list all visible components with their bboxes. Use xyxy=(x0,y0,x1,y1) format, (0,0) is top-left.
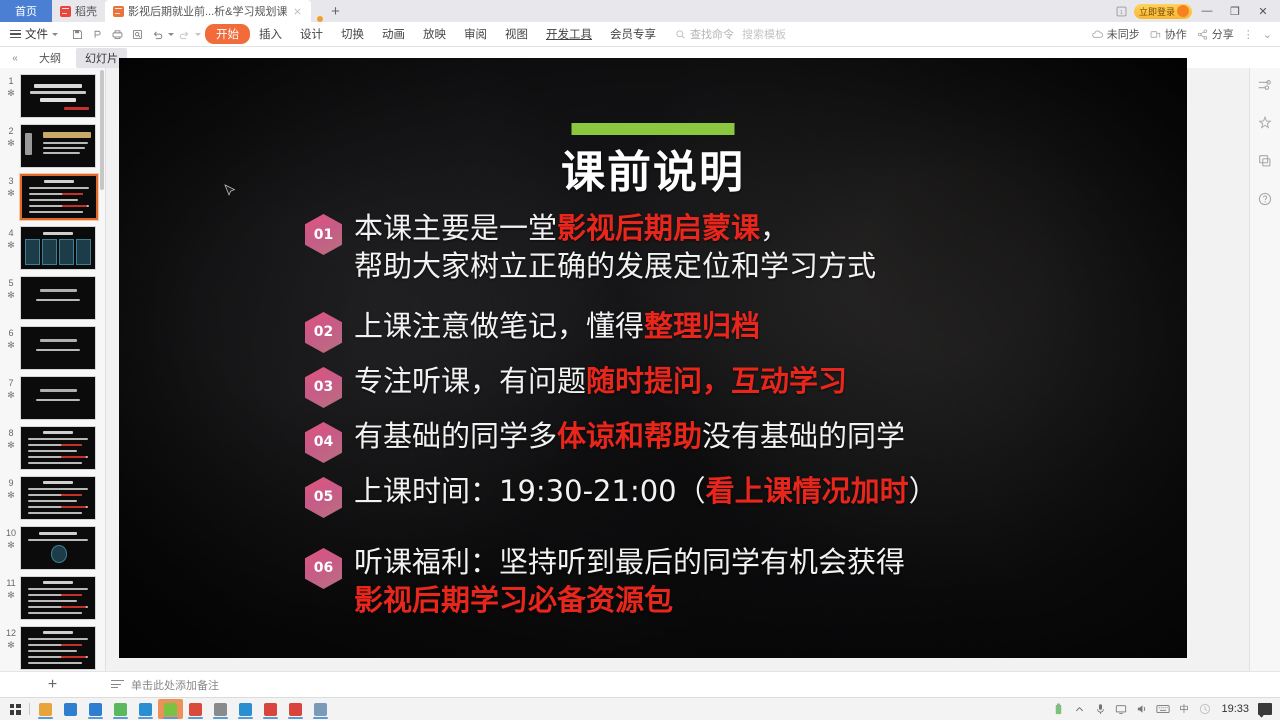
taskbar-divider xyxy=(29,703,30,715)
thumbnail-meta: 3✻ xyxy=(2,174,20,200)
avatar xyxy=(1177,5,1189,17)
search-icon xyxy=(675,29,686,40)
current-slide[interactable]: 课前说明 01本课主要是一堂影视后期启蒙课， 帮助大家树立正确的发展定位和学习方… xyxy=(119,58,1187,658)
ribbon-tab-view[interactable]: 视图 xyxy=(496,24,537,44)
taskbar-app-browser-blue[interactable] xyxy=(133,699,158,719)
system-tray: 中 19:33 xyxy=(1051,702,1276,716)
add-slide-button[interactable]: + xyxy=(0,676,105,694)
animation-star-icon: ✻ xyxy=(2,339,20,352)
wps-presentation-window: 首页 稻壳 影视后期就业前...析&学习规划课 + 1 立即登录 — ❐ ✕ xyxy=(0,0,1280,720)
file-menu-button[interactable]: 文件 xyxy=(6,26,62,42)
thumbnail-preview[interactable] xyxy=(20,626,96,670)
ppt-doc-icon xyxy=(113,6,124,17)
mail-icon xyxy=(64,703,77,716)
ime-cn-icon[interactable]: 中 xyxy=(1177,702,1191,716)
taskbar-app-peak-app[interactable] xyxy=(308,699,333,719)
thumbnail-preview[interactable] xyxy=(20,226,96,270)
running-indicator xyxy=(163,717,178,719)
print-preview-icon[interactable] xyxy=(88,25,107,44)
vip-login-label: 立即登录 xyxy=(1139,5,1175,18)
chevron-down-icon xyxy=(52,33,58,36)
menu-icon xyxy=(10,30,21,38)
running-indicator xyxy=(213,717,228,719)
thumbnail-number: 3 xyxy=(2,176,20,187)
right-tool-rail xyxy=(1249,68,1280,672)
thumbnail-preview[interactable] xyxy=(20,476,96,520)
cursor-icon xyxy=(224,184,236,196)
ribbon-tab-start[interactable]: 开始 xyxy=(205,24,250,44)
sync-status-label: 未同步 xyxy=(1107,26,1140,42)
quick-access-toolbar xyxy=(68,25,201,44)
running-indicator xyxy=(138,717,153,719)
taskbar-app-file-explorer[interactable] xyxy=(33,699,58,719)
wps-app-icon xyxy=(289,703,302,716)
thumbnail-slide-9[interactable]: 9✻ xyxy=(0,473,105,523)
new-tab-button[interactable]: + xyxy=(323,0,349,22)
tab-presentation[interactable]: 影视后期就业前...析&学习规划课 xyxy=(105,0,311,22)
thumbnail-meta: 10✻ xyxy=(2,526,20,552)
thumbnail-preview[interactable] xyxy=(20,526,96,570)
export-pdf-icon[interactable] xyxy=(128,25,147,44)
thumbnail-meta: 8✻ xyxy=(2,426,20,452)
ribbon-collapse-button[interactable]: ⌄ xyxy=(1263,28,1272,41)
ribbon-tab-insert[interactable]: 插入 xyxy=(250,24,291,44)
undo-chevron-icon[interactable] xyxy=(168,33,174,36)
tab-docer-label: 稻壳 xyxy=(75,3,97,19)
animation-star-icon: ✻ xyxy=(2,439,20,452)
thumbnail-slide-11[interactable]: 11✻ xyxy=(0,573,105,623)
slide-bullet-list: 01本课主要是一堂影视后期启蒙课， 帮助大家树立正确的发展定位和学习方式02上课… xyxy=(305,210,1147,634)
taskbar-app-kx-app[interactable] xyxy=(233,699,258,719)
search-placeholder: 查找命令 xyxy=(690,26,734,42)
taskbar-app-mail[interactable] xyxy=(58,699,83,719)
taskbar-app-panda-app[interactable] xyxy=(208,699,233,719)
thumbnail-meta: 6✻ xyxy=(2,326,20,352)
restore-button[interactable]: ❐ xyxy=(1222,0,1248,22)
running-indicator xyxy=(238,717,253,719)
mic-icon[interactable] xyxy=(1093,702,1107,716)
layers-icon[interactable] xyxy=(1254,150,1276,172)
browser-blue-icon xyxy=(139,703,152,716)
collab-icon xyxy=(1149,28,1162,41)
slide-bullet-05[interactable]: 05上课时间：19:30-21:00（看上课情况加时） xyxy=(305,473,1147,514)
thumbnail-preview[interactable] xyxy=(20,74,96,118)
ribbon-bar: 文件 开始 插入 设计 切换 动画 放映 审阅 视图 开发工具 会员专享 xyxy=(0,22,1280,47)
ribbon-overflow-button[interactable]: ⋮ xyxy=(1243,28,1254,41)
thumbnail-list: 1✻2✻3✻4✻5✻6✻7✻8✻9✻10✻11✻12✻13✻ xyxy=(0,68,105,672)
thumbnail-number: 12 xyxy=(2,628,20,639)
keyboard-icon[interactable] xyxy=(1156,702,1170,716)
notes-placeholder-label: 单击此处添加备注 xyxy=(131,677,219,693)
thumbnail-preview[interactable] xyxy=(20,376,96,420)
thumbnail-slide-12[interactable]: 12✻ xyxy=(0,623,105,672)
close-window-button[interactable]: ✕ xyxy=(1250,0,1276,22)
thumbnail-number: 1 xyxy=(2,76,20,87)
magic-star-icon[interactable] xyxy=(1254,112,1276,134)
taskbar-app-lark[interactable] xyxy=(83,699,108,719)
thumbnail-preview[interactable] xyxy=(20,124,96,168)
close-icon[interactable] xyxy=(292,6,303,17)
ribbon-tab-slideshow[interactable]: 放映 xyxy=(414,24,455,44)
thumbnail-preview[interactable] xyxy=(20,276,96,320)
notes-bar: + 单击此处添加备注 xyxy=(0,671,1280,698)
taskbar-app-shuffle-app[interactable] xyxy=(258,699,283,719)
thumbnail-slide-8[interactable]: 8✻ xyxy=(0,423,105,473)
thumbnail-number: 7 xyxy=(2,378,20,389)
thumbnail-preview[interactable] xyxy=(20,576,96,620)
redo-icon[interactable] xyxy=(175,25,194,44)
thumbnail-scrollbar[interactable] xyxy=(100,68,105,672)
collaborate-label: 协作 xyxy=(1165,26,1187,42)
taskbar-app-browser-green[interactable] xyxy=(108,699,133,719)
chevron-up-icon[interactable] xyxy=(1072,702,1086,716)
tab-home[interactable]: 首页 xyxy=(0,0,52,22)
share-icon xyxy=(1196,28,1209,41)
bullet-text: 上课注意做笔记，懂得整理归档 xyxy=(354,308,760,346)
sync-icon[interactable] xyxy=(1198,702,1212,716)
thumbnail-preview[interactable] xyxy=(20,326,96,370)
search-templates-label[interactable]: 搜索模板 xyxy=(742,26,786,42)
print-icon[interactable] xyxy=(108,25,127,44)
svg-text:中: 中 xyxy=(1180,703,1189,714)
ribbon-tabs: 开始 插入 设计 切换 动画 放映 审阅 视图 开发工具 会员专享 xyxy=(205,24,665,44)
sync-status-button[interactable]: 未同步 xyxy=(1091,26,1140,42)
file-explorer-icon xyxy=(39,703,52,716)
screenshot-icon[interactable]: 1 xyxy=(1112,1,1132,21)
thumbnail-meta: 1✻ xyxy=(2,74,20,100)
slide-thumbnail-panel[interactable]: 1✻2✻3✻4✻5✻6✻7✻8✻9✻10✻11✻12✻13✻ xyxy=(0,68,106,672)
slide-bullet-02[interactable]: 02上课注意做笔记，懂得整理归档 xyxy=(305,308,1147,349)
ribbon-tab-animation[interactable]: 动画 xyxy=(373,24,414,44)
animation-star-icon: ✻ xyxy=(2,87,20,100)
slide-canvas-area[interactable]: 课前说明 01本课主要是一堂影视后期启蒙课， 帮助大家树立正确的发展定位和学习方… xyxy=(106,68,1249,672)
clock-time[interactable]: 19:33 xyxy=(1219,703,1251,715)
bullet-number-badge: 04 xyxy=(305,422,342,463)
windows-taskbar: 中 19:33 xyxy=(0,697,1280,720)
thumbnail-slide-7[interactable]: 7✻ xyxy=(0,373,105,423)
collaborate-button[interactable]: 协作 xyxy=(1149,26,1187,42)
slide-bullet-06[interactable]: 06听课福利：坚持听到最后的同学有机会获得 影视后期学习必备资源包 xyxy=(305,544,1147,620)
bullet-text: 专注听课，有问题随时提问，互动学习 xyxy=(354,363,847,401)
window-right-controls: 1 立即登录 — ❐ ✕ xyxy=(1112,0,1280,22)
ribbon-tab-review[interactable]: 审阅 xyxy=(455,24,496,44)
panda-app-icon xyxy=(214,703,227,716)
tab-docer[interactable]: 稻壳 xyxy=(52,0,105,22)
kx-app-icon xyxy=(239,703,252,716)
minimize-button[interactable]: — xyxy=(1194,0,1220,22)
bullet-number-badge: 01 xyxy=(305,214,342,255)
thumbnail-slide-4[interactable]: 4✻ xyxy=(0,223,105,273)
animation-star-icon: ✻ xyxy=(2,187,20,200)
lark-icon xyxy=(89,703,102,716)
animation-star-icon: ✻ xyxy=(2,489,20,502)
active-app-icon xyxy=(164,703,177,716)
slide-title[interactable]: 课前说明 xyxy=(119,136,1187,200)
running-indicator xyxy=(188,717,203,719)
notes-placeholder-area[interactable]: 单击此处添加备注 xyxy=(105,677,219,693)
main-area: 1✻2✻3✻4✻5✻6✻7✻8✻9✻10✻11✻12✻13✻ 课前说明 01本课… xyxy=(0,68,1280,672)
thumbnail-number: 6 xyxy=(2,328,20,339)
tab-outline[interactable]: 大纲 xyxy=(30,48,70,68)
thumbnail-number: 4 xyxy=(2,228,20,239)
bullet-number-badge: 02 xyxy=(305,312,342,353)
help-circle-icon[interactable] xyxy=(1254,188,1276,210)
running-indicator xyxy=(88,717,103,719)
bullet-text: 听课福利：坚持听到最后的同学有机会获得 影视后期学习必备资源包 xyxy=(354,544,905,620)
save-icon[interactable] xyxy=(68,25,87,44)
thumbnail-meta: 11✻ xyxy=(2,576,20,602)
cloud-sync-icon xyxy=(1091,28,1104,41)
window-tab-bar: 首页 稻壳 影视后期就业前...析&学习规划课 + 1 立即登录 — ❐ ✕ xyxy=(0,0,1280,22)
bullet-text: 有基础的同学多体谅和帮助没有基础的同学 xyxy=(354,418,905,456)
start-icon[interactable] xyxy=(4,699,26,719)
thumbnail-slide-3[interactable]: 3✻ xyxy=(0,171,105,223)
running-indicator xyxy=(263,717,278,719)
bullet-number-badge: 05 xyxy=(305,477,342,518)
animation-star-icon: ✻ xyxy=(2,239,20,252)
peak-app-icon xyxy=(314,703,327,716)
adjust-sliders-icon[interactable] xyxy=(1254,74,1276,96)
thumbnail-meta: 5✻ xyxy=(2,276,20,302)
thumbnail-number: 2 xyxy=(2,126,20,137)
ribbon-tab-transition[interactable]: 切换 xyxy=(332,24,373,44)
thumbnail-slide-2[interactable]: 2✻ xyxy=(0,121,105,171)
thumbnail-preview[interactable] xyxy=(20,426,96,470)
slide-bullet-01[interactable]: 01本课主要是一堂影视后期启蒙课， 帮助大家树立正确的发展定位和学习方式 xyxy=(305,210,1147,286)
thumbnail-number: 8 xyxy=(2,428,20,439)
ribbon-tab-design[interactable]: 设计 xyxy=(291,24,332,44)
browser-green-icon xyxy=(114,703,127,716)
thumbnail-number: 5 xyxy=(2,278,20,289)
thumbnail-meta: 2✻ xyxy=(2,124,20,150)
thumbnail-slide-10[interactable]: 10✻ xyxy=(0,523,105,573)
animation-star-icon: ✻ xyxy=(2,539,20,552)
thumbnail-slide-6[interactable]: 6✻ xyxy=(0,323,105,373)
bullet-text: 上课时间：19:30-21:00（看上课情况加时） xyxy=(354,473,938,511)
thumbnail-meta: 4✻ xyxy=(2,226,20,252)
share-button[interactable]: 分享 xyxy=(1196,26,1234,42)
file-menu-label: 文件 xyxy=(25,26,48,42)
notification-icon[interactable] xyxy=(1258,703,1272,715)
ribbon-tab-devtools[interactable]: 开发工具 xyxy=(537,24,601,44)
chrome-icon xyxy=(189,703,202,716)
tab-presentation-label: 影视后期就业前...析&学习规划课 xyxy=(128,3,288,19)
slide-bullet-04[interactable]: 04有基础的同学多体谅和帮助没有基础的同学 xyxy=(305,418,1147,459)
thumbnail-slide-5[interactable]: 5✻ xyxy=(0,273,105,323)
vip-login-button[interactable]: 立即登录 xyxy=(1134,4,1192,19)
running-indicator xyxy=(113,717,128,719)
scrollbar-thumb[interactable] xyxy=(100,70,104,190)
running-indicator xyxy=(38,717,53,719)
taskbar-app-active-app[interactable] xyxy=(158,699,183,719)
thumbnail-meta: 12✻ xyxy=(2,626,20,652)
taskbar-app-wps-app[interactable] xyxy=(283,699,308,719)
thumbnail-number: 11 xyxy=(2,578,20,589)
slide-bullet-03[interactable]: 03专注听课，有问题随时提问，互动学习 xyxy=(305,363,1147,404)
thumbnail-meta: 9✻ xyxy=(2,476,20,502)
bullet-number-badge: 03 xyxy=(305,367,342,408)
tab-home-label: 首页 xyxy=(15,3,37,19)
search-command-box[interactable]: 查找命令 xyxy=(675,26,734,42)
running-indicator xyxy=(288,717,303,719)
running-indicator xyxy=(313,717,328,719)
thumbnail-slide-1[interactable]: 1✻ xyxy=(0,71,105,121)
thumbnail-number: 9 xyxy=(2,478,20,489)
display-icon[interactable] xyxy=(1114,702,1128,716)
thumbnail-number: 10 xyxy=(2,528,20,539)
animation-star-icon: ✻ xyxy=(2,589,20,602)
ribbon-right-actions: 未同步 协作 分享 ⋮ ⌄ xyxy=(1091,26,1274,42)
undo-icon[interactable] xyxy=(148,25,167,44)
animation-star-icon: ✻ xyxy=(2,289,20,302)
usb-icon[interactable] xyxy=(1051,702,1065,716)
animation-star-icon: ✻ xyxy=(2,389,20,402)
volume-icon[interactable] xyxy=(1135,702,1149,716)
taskbar-apps xyxy=(33,699,333,719)
taskbar-app-chrome[interactable] xyxy=(183,699,208,719)
pdf-doc-icon xyxy=(60,6,71,17)
animation-star-icon: ✻ xyxy=(2,639,20,652)
collapse-panel-icon[interactable]: « xyxy=(6,49,24,67)
svg-text:1: 1 xyxy=(1120,9,1123,15)
notes-icon xyxy=(111,680,124,690)
bullet-number-badge: 06 xyxy=(305,548,342,589)
share-label: 分享 xyxy=(1212,26,1234,42)
shuffle-app-icon xyxy=(264,703,277,716)
thumbnail-meta: 7✻ xyxy=(2,376,20,402)
animation-star-icon: ✻ xyxy=(2,137,20,150)
bullet-text: 本课主要是一堂影视后期启蒙课， 帮助大家树立正确的发展定位和学习方式 xyxy=(354,210,876,286)
title-accent-bar xyxy=(572,123,735,135)
ribbon-tab-vip[interactable]: 会员专享 xyxy=(601,24,665,44)
thumbnail-preview[interactable] xyxy=(20,174,98,220)
more-chevron-icon[interactable] xyxy=(195,33,201,36)
